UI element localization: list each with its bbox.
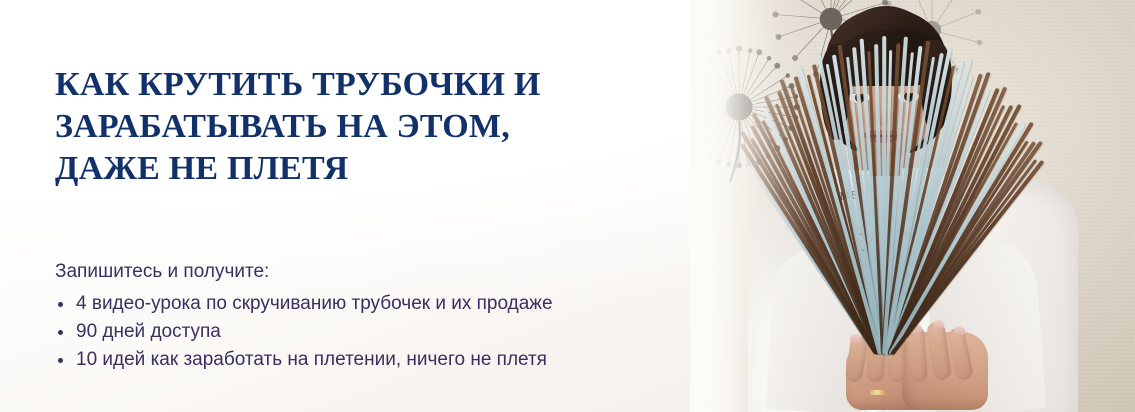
- headline-line-1: КАК КРУТИТЬ ТРУБОЧКИ И: [55, 64, 655, 106]
- list-item: 4 видео-урока по скручиванию трубочек и …: [55, 290, 675, 318]
- list-item: 90 дней доступа: [55, 318, 675, 346]
- offer-lead: Запишитесь и получите:: [55, 258, 675, 286]
- text-column: КАК КРУТИТЬ ТРУБОЧКИ И ЗАРАБАТЫВАТЬ НА Э…: [55, 0, 675, 412]
- fingernail: [954, 326, 965, 335]
- list-item: 10 идей как заработать на плетении, ниче…: [55, 346, 675, 374]
- headline-line-2: ЗАРАБАТЫВАТЬ НА ЭТОМ,: [55, 106, 655, 148]
- headline-line-3: ДАЖЕ НЕ ПЛЕТЯ: [55, 148, 655, 190]
- offer-block: Запишитесь и получите: 4 видео-урока по …: [55, 258, 675, 374]
- list-item-label: 10 идей как заработать на плетении, ниче…: [76, 349, 547, 370]
- ring: [870, 390, 885, 395]
- offer-list: 4 видео-урока по скручиванию трубочек и …: [55, 290, 675, 374]
- bullet-icon: [58, 330, 63, 335]
- list-item-label: 4 видео-урока по скручиванию трубочек и …: [76, 293, 553, 314]
- bullet-icon: [58, 302, 63, 307]
- bullet-icon: [58, 358, 63, 363]
- fingernail: [933, 320, 944, 329]
- fingernail: [850, 334, 861, 343]
- hero-photo: МБ У: [690, 0, 1135, 412]
- page-title: КАК КРУТИТЬ ТРУБОЧКИ И ЗАРАБАТЫВАТЬ НА Э…: [55, 64, 655, 190]
- promo-banner: МБ У: [0, 0, 1135, 412]
- list-item-label: 90 дней доступа: [76, 321, 221, 342]
